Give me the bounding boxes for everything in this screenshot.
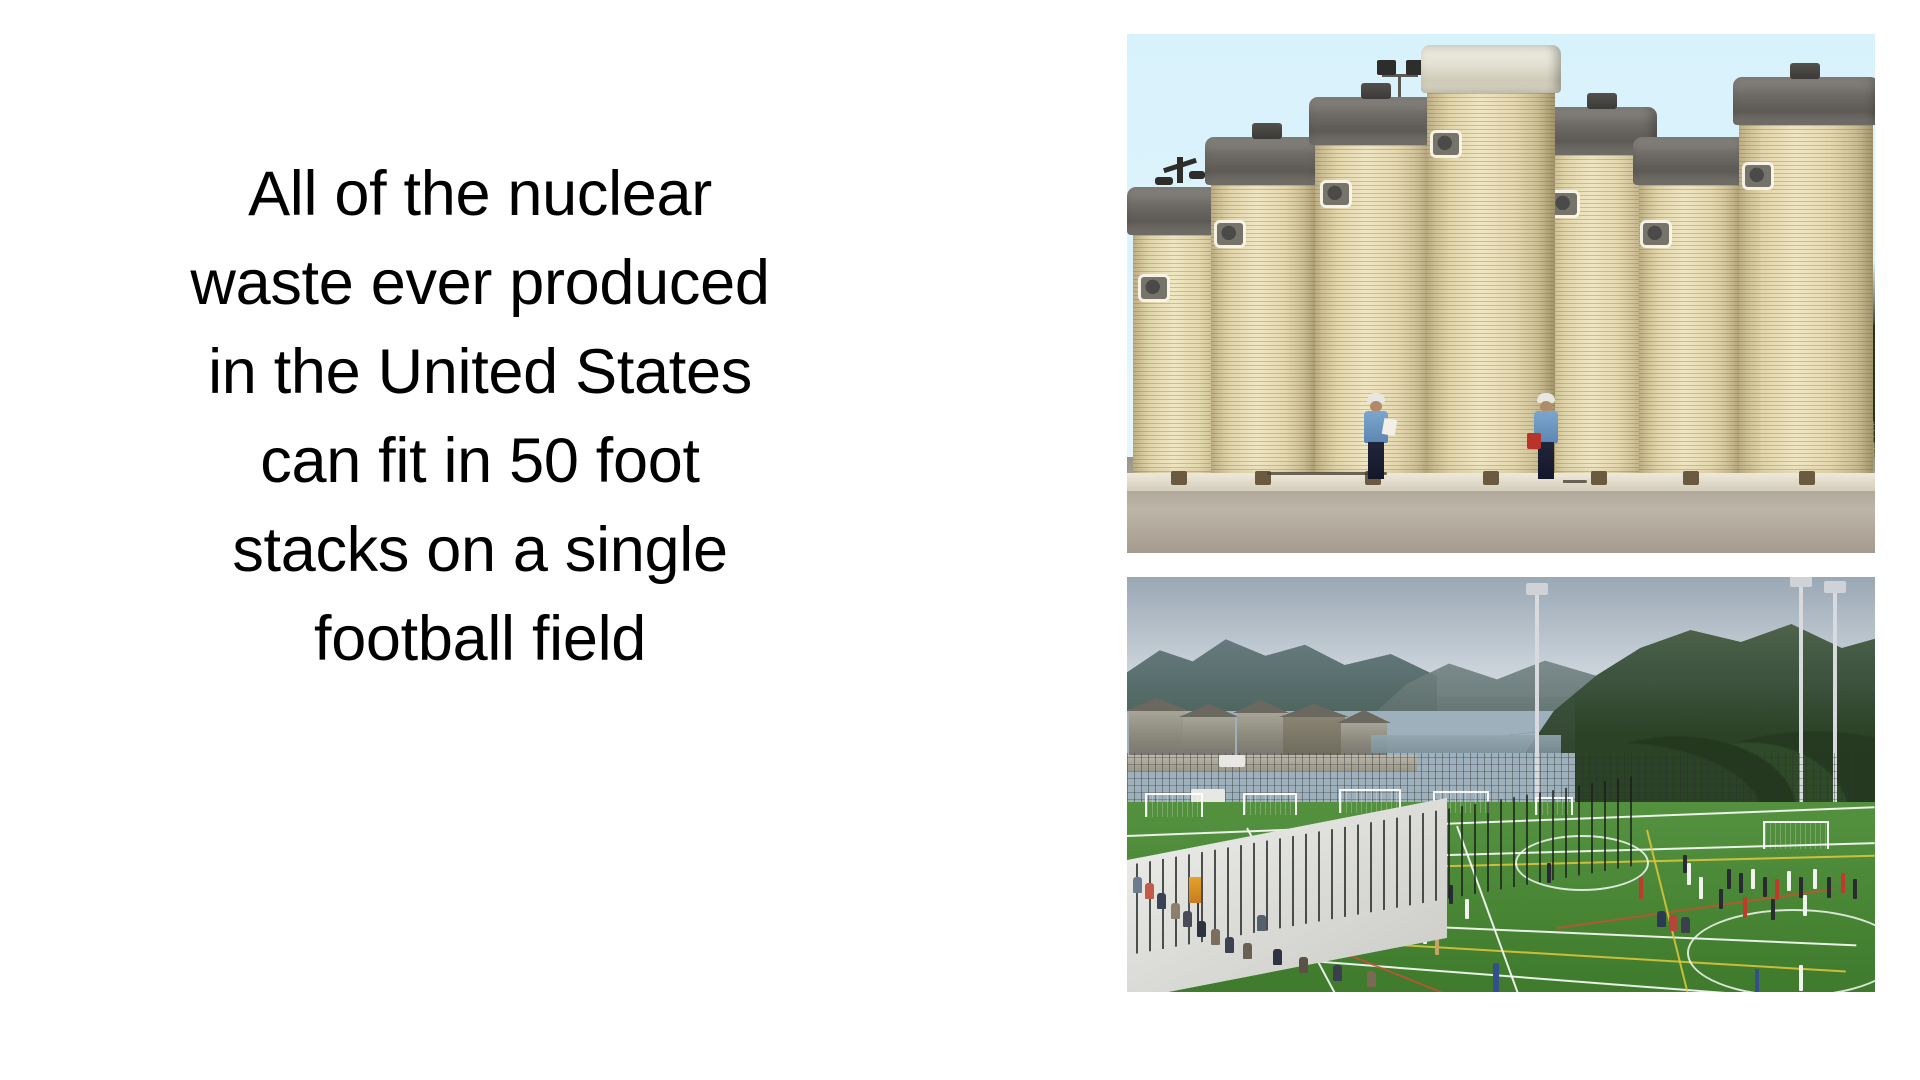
sideline-person: [1775, 879, 1779, 900]
headline-text-block: All of the nuclear waste ever produced i…: [60, 150, 900, 850]
slide-canvas: All of the nuclear waste ever produced i…: [0, 0, 1920, 1080]
worker-legs: [1368, 442, 1384, 479]
sideline-person: [1853, 879, 1857, 899]
sideline-person: [1751, 869, 1755, 889]
cask-port: [1683, 471, 1699, 485]
spectator: [1225, 937, 1234, 953]
player: [1639, 877, 1643, 899]
spectator: [1333, 965, 1342, 981]
headline-line-5: stacks on a single: [190, 506, 769, 595]
soccer-goal: [1243, 793, 1297, 815]
cask-vent: [1323, 183, 1349, 205]
stadium-light-head: [1526, 583, 1548, 595]
cask-vent: [1643, 223, 1669, 245]
page-title: All of the nuclear waste ever produced i…: [190, 150, 769, 684]
seated-spectator: [1669, 915, 1678, 931]
cask-vent: [1141, 277, 1167, 299]
headline-line-2: waste ever produced: [190, 239, 769, 328]
stadium-light-head: [1790, 577, 1812, 587]
cask-vent: [1745, 165, 1771, 187]
cask-lid-cap: [1587, 93, 1617, 109]
worker-inspector: [1363, 393, 1389, 479]
cask-port: [1591, 471, 1607, 485]
cask-port: [1483, 471, 1499, 485]
sideline-person: [1787, 871, 1791, 891]
tool-bag: [1527, 433, 1541, 449]
headline-line-3: in the United States: [190, 328, 769, 417]
house: [1183, 715, 1235, 755]
spectator: [1145, 883, 1154, 899]
player: [1755, 969, 1759, 992]
soccer-goal: [1145, 793, 1203, 817]
cask-lid: [1309, 97, 1441, 145]
house: [1283, 715, 1345, 755]
residential-houses: [1127, 685, 1397, 761]
image-football-field: [1127, 577, 1875, 992]
spectator: [1211, 929, 1220, 945]
cask-lid-cap: [1252, 123, 1282, 139]
player: [1799, 965, 1803, 991]
player: [1687, 863, 1691, 885]
player: [1699, 877, 1703, 899]
sideline-person: [1727, 869, 1731, 889]
cask-lid-cap: [1361, 83, 1391, 99]
spectator: [1133, 877, 1142, 893]
cask-port: [1171, 471, 1187, 485]
player: [1683, 855, 1687, 873]
corner-flag: [1189, 877, 1201, 903]
sideline-person: [1743, 897, 1747, 918]
stadium-light-head: [1824, 581, 1846, 593]
seated-spectator: [1681, 917, 1690, 933]
sideline-person: [1771, 899, 1775, 920]
cask-port: [1799, 471, 1815, 485]
spectator: [1257, 915, 1266, 931]
clipboard: [1382, 418, 1398, 436]
sideline-person: [1763, 877, 1767, 897]
player: [1465, 899, 1469, 919]
spectator: [1183, 911, 1192, 927]
cask-lid: [1733, 77, 1875, 125]
cask-top-equipment: [1155, 157, 1211, 191]
light-mast-lamp-left: [1377, 60, 1396, 75]
spectator: [1243, 943, 1252, 959]
sideline-person: [1739, 873, 1743, 893]
seated-spectator: [1657, 911, 1666, 927]
storage-cask: [1739, 117, 1873, 477]
cask-lid: [1633, 137, 1751, 185]
lake-water: [1371, 735, 1561, 753]
spectator: [1367, 971, 1376, 987]
parked-van: [1219, 755, 1245, 767]
cask-lid: [1205, 137, 1325, 185]
headline-line-1: All of the nuclear: [190, 150, 769, 239]
house: [1129, 709, 1185, 755]
storage-cask: [1547, 147, 1651, 477]
coach: [1493, 963, 1499, 992]
worker-inspector: [1533, 393, 1559, 479]
spectator: [1157, 893, 1166, 909]
cask-lid-cap: [1790, 63, 1820, 79]
cask-lid: [1421, 45, 1561, 93]
soccer-goal: [1763, 821, 1829, 849]
sideline-person: [1813, 869, 1817, 889]
image-dry-cask-storage: [1127, 34, 1875, 553]
headline-line-4: can fit in 50 foot: [190, 417, 769, 506]
storage-cask: [1639, 177, 1745, 477]
sideline-person: [1841, 873, 1845, 893]
storage-cask: [1211, 177, 1319, 477]
spectator: [1299, 957, 1308, 973]
house: [1237, 711, 1285, 755]
spectator: [1273, 949, 1282, 965]
sideline-person: [1803, 895, 1807, 916]
sideline-person: [1719, 889, 1723, 909]
spectator: [1197, 921, 1206, 937]
cask-vent: [1433, 133, 1459, 155]
cask-vent: [1217, 223, 1243, 245]
sideline-person: [1827, 877, 1831, 898]
headline-line-6: football field: [190, 595, 769, 684]
spectator: [1171, 903, 1180, 919]
